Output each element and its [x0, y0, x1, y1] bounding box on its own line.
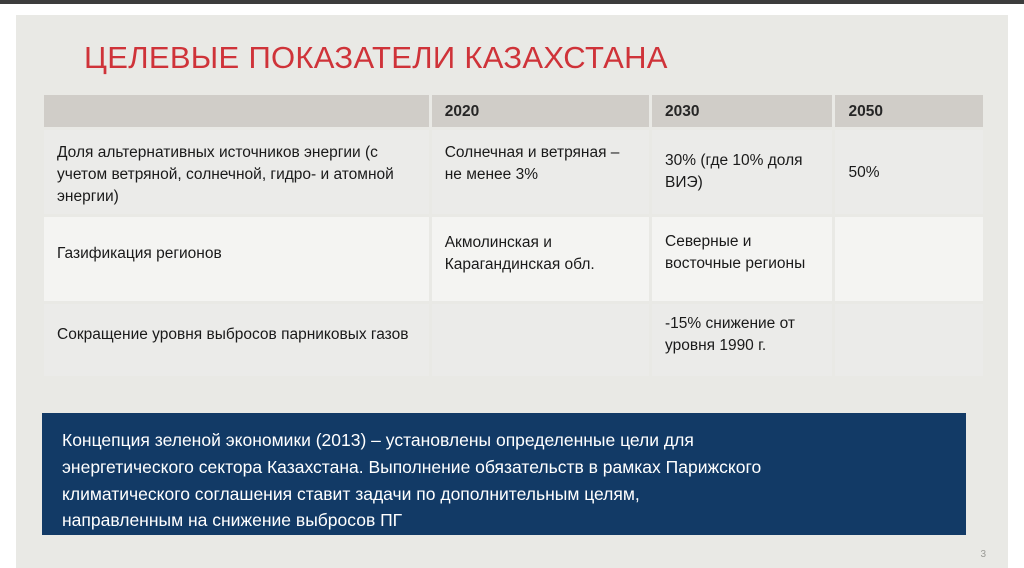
cell-indicator: Сокращение уровня выбросов парниковых га…: [44, 304, 429, 376]
table-row: Газификация регионов Акмолинская и Караг…: [44, 217, 983, 301]
cell-2020: Солнечная и ветряная – не менее 3%: [432, 130, 649, 214]
callout-line-3: климатического соглашения ставит задачи …: [62, 481, 946, 508]
cell-2050: [835, 304, 983, 376]
callout-line-2: энергетического сектора Казахстана. Выпо…: [62, 454, 946, 481]
cell-2030: Северные и восточные регионы: [652, 217, 832, 301]
table-header-indicator: [44, 95, 429, 127]
callout-line-4: направленным на снижение выбросов ПГ: [62, 507, 946, 534]
table-row: Доля альтернативных источников энергии (…: [44, 130, 983, 214]
cell-2020: [432, 304, 649, 376]
cell-2030: -15% снижение от уровня 1990 г.: [652, 304, 832, 376]
table-row: Сокращение уровня выбросов парниковых га…: [44, 304, 983, 376]
presentation-slide: ЦЕЛЕВЫЕ ПОКАЗАТЕЛИ КАЗАХСТАНА 2020 2030 …: [16, 15, 1008, 568]
cell-2020: Акмолинская и Карагандинская обл.: [432, 217, 649, 301]
summary-callout: Концепция зеленой экономики (2013) – уст…: [42, 413, 966, 535]
cell-2030: 30% (где 10% доля ВИЭ): [652, 130, 832, 214]
page-title: ЦЕЛЕВЫЕ ПОКАЗАТЕЛИ КАЗАХСТАНА: [84, 41, 964, 75]
cell-indicator: Газификация регионов: [44, 217, 429, 301]
table-header-2050: 2050: [835, 95, 983, 127]
slide-number: 3: [980, 549, 986, 560]
cell-2050: [835, 217, 983, 301]
table-header-2020: 2020: [432, 95, 649, 127]
cell-indicator: Доля альтернативных источников энергии (…: [44, 130, 429, 214]
table-header-row: 2020 2030 2050: [44, 95, 983, 127]
callout-line-1: Концепция зеленой экономики (2013) – уст…: [62, 427, 946, 454]
targets-table: 2020 2030 2050 Доля альтернативных источ…: [44, 95, 983, 376]
cell-2050: 50%: [835, 130, 983, 214]
window-top-bar: [0, 0, 1024, 4]
table-header-2030: 2030: [652, 95, 832, 127]
